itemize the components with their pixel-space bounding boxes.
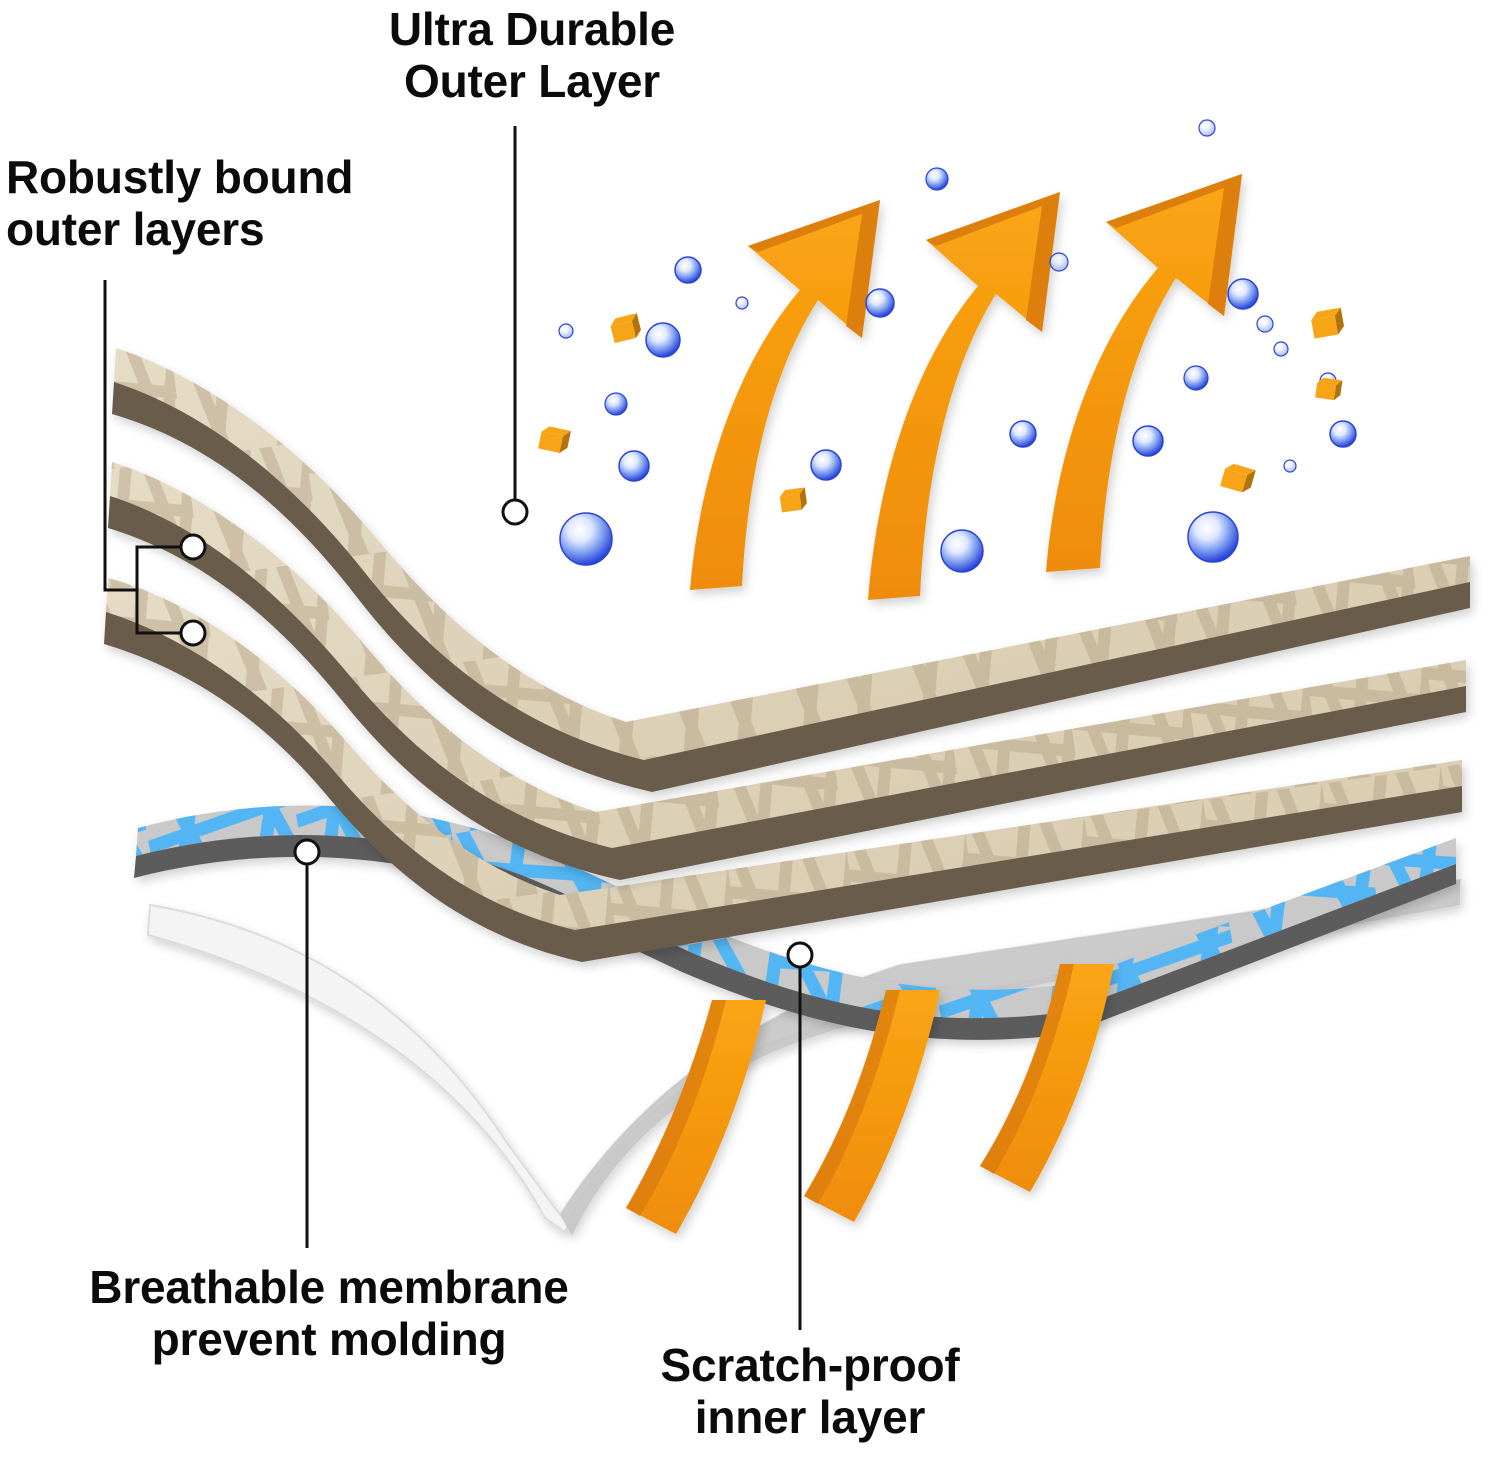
moisture-bubble <box>1330 421 1356 447</box>
dirt-particle-cube <box>1220 462 1256 494</box>
label-scratch-proof-inner-layer: Scratch-proof inner layer <box>600 1340 1020 1443</box>
label-robustly-bound-outer-layers: Robustly bound outer layers <box>6 152 476 255</box>
moisture-bubble <box>1050 253 1068 271</box>
leader-membrane <box>295 840 319 1248</box>
moisture-bubble <box>1184 366 1208 390</box>
dirt-particle-cube <box>609 313 642 343</box>
moisture-bubble <box>560 513 612 565</box>
moisture-bubble <box>736 297 748 309</box>
moisture-bubble <box>675 257 701 283</box>
diagram-canvas: Ultra Durable Outer Layer Robustly bound… <box>0 0 1500 1475</box>
dirt-particle-cube <box>1310 308 1345 339</box>
moisture-bubble <box>1284 460 1296 472</box>
leader-outer-layer <box>503 126 527 524</box>
moisture-bubble <box>866 289 894 317</box>
moisture-bubble <box>1188 512 1238 562</box>
moisture-bubble <box>619 451 649 481</box>
moisture-bubble <box>1274 342 1288 356</box>
label-ultra-durable-outer-layer: Ultra Durable Outer Layer <box>332 4 732 107</box>
moisture-bubble <box>811 450 841 480</box>
moisture-bubble <box>605 393 627 415</box>
moisture-bubble <box>1199 120 1215 136</box>
moisture-bubble <box>1133 426 1163 456</box>
moisture-bubble <box>1228 279 1258 309</box>
leader-bound-layers <box>105 280 205 645</box>
dirt-particle-cube <box>1315 377 1342 401</box>
dirt-particle-cube <box>779 487 808 512</box>
moisture-bubble <box>926 168 948 190</box>
moisture-bubble <box>1010 421 1036 447</box>
moisture-bubble <box>646 323 680 357</box>
moisture-bubble <box>1257 316 1273 332</box>
arrow-up-1 <box>690 200 880 590</box>
moisture-bubble <box>559 324 573 338</box>
moisture-bubble <box>941 530 983 572</box>
label-breathable-membrane: Breathable membrane prevent molding <box>4 1262 654 1365</box>
dirt-particle-cube <box>538 425 571 454</box>
